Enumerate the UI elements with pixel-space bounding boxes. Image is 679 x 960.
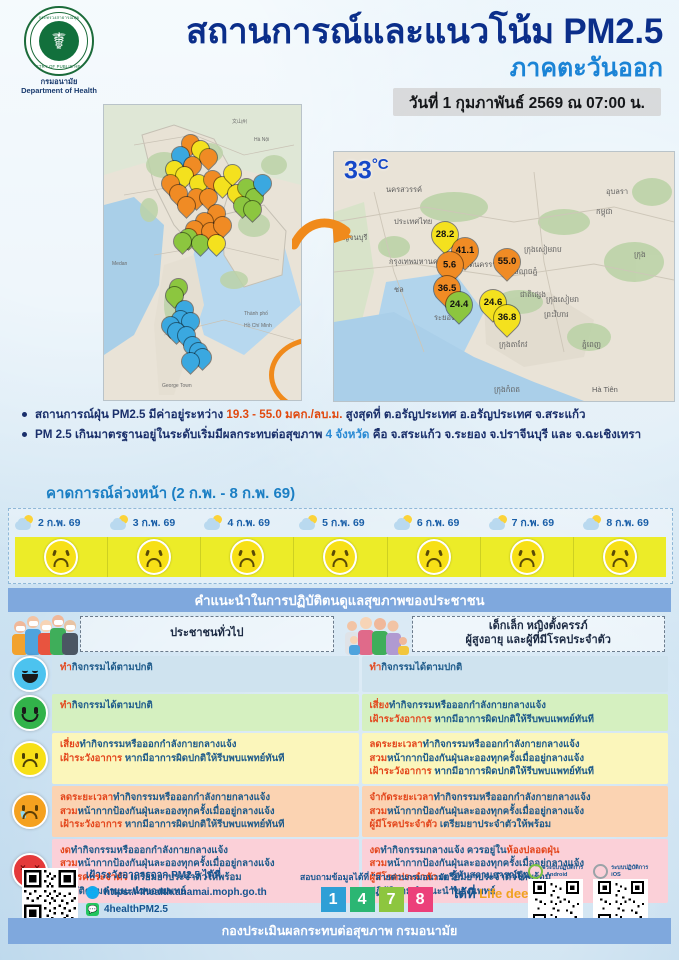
svg-text:ព្រះវិហារ: ព្រះវិហារ <box>544 309 569 319</box>
website-url[interactable]: https://4health.anamai.moph.go.th <box>104 885 267 900</box>
ministry-logo: กระทรวงสาธารณสุข ☤ MINISTRY OF PUBLIC HE… <box>16 6 102 95</box>
group-label-risk: เด็กเล็ก หญิงตั้งครรภ์ผู้สูงอายุ และผู้ท… <box>412 616 666 652</box>
recommendation-row: เสี่ยงทำกิจกรรมหรือออกกำลังกายกลางแจ้งเฝ… <box>8 733 671 784</box>
severity-emoji-cell <box>8 733 52 784</box>
recommendations-panel: ประชาชนทั่วไป เด็กเล็ก หญิงตั้งครรภ์ผู้ส… <box>8 612 671 860</box>
recommendation-segment: จำกัดระยะเวลา <box>370 792 434 803</box>
recommendation-text-risk: ทำกิจกรรมได้ตามปกติ <box>362 656 669 692</box>
recommendation-row: ทำกิจกรรมได้ตามปกติเสี่ยงทำกิจกรรมหรือออ… <box>8 694 671 731</box>
bullet-item: สถานการณ์ฝุ่น PM2.5 มีค่าอยู่ระหว่าง 19.… <box>22 406 667 424</box>
recommendation-segment: เฝ้าระวังอาการ <box>370 714 432 725</box>
footer: เฝ้าระวังอาการจาก PM2.5 ได้ที่ 🌐 https:/… <box>0 862 679 960</box>
recommendation-segment: งด <box>60 845 71 856</box>
recommendation-segment: ทำกิจกรรมกลางแจ้ง ควรอยู่ใน <box>380 845 506 856</box>
seal-arc-bottom-text: MINISTRY OF PUBLIC HEALTH <box>26 64 92 69</box>
forecast-heading: คาดการณ์ล่วงหน้า (2 ก.พ. - 8 ก.พ. 69) <box>46 481 295 505</box>
sad-face-icon <box>510 539 544 575</box>
sun-cloud-icon <box>15 515 34 530</box>
recommendation-text-general: ทำกิจกรรมได้ตามปกติ <box>52 694 359 731</box>
group-header-risk: เด็กเล็ก หญิงตั้งครรภ์ผู้สูงอายุ และผู้ท… <box>340 612 672 656</box>
website-qr-code[interactable] <box>22 868 78 924</box>
footer-contact-text: เฝ้าระวังอาการจาก PM2.5 ได้ที่ 🌐 https:/… <box>86 868 267 917</box>
recommendation-segment: เสี่ยง <box>60 739 79 750</box>
recommendations-title: คำแนะนำในการปฏิบัติตนดูแลสุขภาพของประชาช… <box>8 588 671 612</box>
caduceus-icon: ☤ <box>39 21 79 61</box>
bullet-segment: สถานการณ์ฝุ่น PM2.5 มีค่าอยู่ระหว่าง <box>35 408 226 421</box>
recommendation-segment: ลดระยะเวลา <box>60 792 113 803</box>
forecast-day-cell <box>388 537 481 577</box>
recommendation-segment: เฝ้าระวังอาการ <box>370 766 432 777</box>
recommendation-segment: ทำ <box>370 662 382 673</box>
forecast-day-cell <box>15 537 108 577</box>
footer-contact: เฝ้าระวังอาการจาก PM2.5 ได้ที่ 🌐 https:/… <box>22 868 267 924</box>
temperature-readout: 33°C <box>344 156 389 185</box>
forecast-day-header: 6 ก.พ. 69 <box>388 509 483 535</box>
sad-face-icon <box>230 539 264 575</box>
svg-text:Hà Nội: Hà Nội <box>254 137 269 143</box>
recommendation-segment: หากมีอาการผิดปกติให้รีบพบแพทย์ทันที <box>432 714 594 725</box>
recommendation-segment: หน้ากากป้องกันฝุ่นละอองทุกครั้งเมื่ออยู่… <box>387 753 584 764</box>
recommendation-segment: สวม <box>370 806 388 817</box>
forecast-day-header: 8 ก.พ. 69 <box>577 509 672 535</box>
hotline-block: สอบถามข้อมูลได้ที่ "สายด่วนกรมอนามัย" 14… <box>300 870 453 912</box>
svg-text:ក្រុងសៀមរា: ក្រុងសៀមរា <box>546 294 579 305</box>
svg-text:ក្រុងសៀមរាប: ក្រុងសៀមរាប <box>524 244 562 255</box>
sad-face-icon <box>417 539 451 575</box>
recommendation-segment: สวม <box>60 806 78 817</box>
svg-text:ក្រុងកំពត: ក្រុងកំពត <box>494 384 520 395</box>
severity-emoji-cell <box>8 656 52 692</box>
app-label: ระบบปฏิบัติการAndroid <box>546 865 583 878</box>
recommendation-segment: หากมีอาการผิดปกติให้รีบพบแพทย์ทันที <box>122 819 284 830</box>
forecast-day-header: 3 ก.พ. 69 <box>104 509 199 535</box>
map-pin-value: 28.2 <box>436 230 455 240</box>
forecast-day-label: 7 ก.พ. 69 <box>512 514 554 531</box>
app-label: ระบบปฏิบัติการiOS <box>611 865 648 878</box>
recommendation-segment: ทำกิจกรรมหรือออกกำลังกายกลางแจ้ง <box>79 739 236 750</box>
website-row[interactable]: 🌐 https://4health.anamai.moph.go.th <box>86 885 267 900</box>
bullet-segment: คือ จ.สระแก้ว จ.ระยอง จ.ปราจีนบุรี และ จ… <box>369 428 641 441</box>
forecast-day-label: 8 ก.พ. 69 <box>606 514 648 531</box>
sad-face-icon <box>323 539 357 575</box>
svg-text:อุบลรา: อุบลรา <box>606 187 628 196</box>
svg-text:Hà Tiên: Hà Tiên <box>592 385 618 394</box>
recommendation-segment: กิจกรรมได้ตามปกติ <box>72 700 153 711</box>
forecast-day-cell <box>481 537 574 577</box>
android-icon <box>528 864 543 879</box>
bullet-dot-icon <box>22 412 27 417</box>
recommendation-segment: เสี่ยง <box>370 700 389 711</box>
hotline-number: 1478 <box>300 887 453 912</box>
svg-text:George Town: George Town <box>162 383 192 389</box>
recommendation-segment: งด <box>370 845 381 856</box>
severity-emoji-cell <box>8 786 52 837</box>
forecast-day-header: 4 ก.พ. 69 <box>198 509 293 535</box>
group-header-general: ประชาชนทั่วไป <box>8 612 340 656</box>
group-label-general: ประชาชนทั่วไป <box>80 616 334 652</box>
forecast-day-header: 2 ก.พ. 69 <box>9 509 104 535</box>
globe-icon: 🌐 <box>86 886 99 899</box>
bullet-text: สถานการณ์ฝุ่น PM2.5 มีค่าอยู่ระหว่าง 19.… <box>35 406 586 424</box>
severity-warn-icon <box>12 741 48 777</box>
watch-symptoms-label: เฝ้าระวังอาการจาก PM2.5 ได้ที่ <box>86 868 267 883</box>
lifedee-block: รู้ทันสถานการณ์ฝุ่น ได้ที่ Life dee <box>452 868 529 904</box>
bullet-segment: 4 จังหวัด <box>326 428 370 441</box>
header: กระทรวงสาธารณสุข ☤ MINISTRY OF PUBLIC HE… <box>0 0 679 118</box>
recommendation-text-risk: ลดระยะเวลาทำกิจกรรมหรือออกกำลังกายกลางแจ… <box>362 733 669 784</box>
hotline-digit: 7 <box>379 887 404 912</box>
svg-text:文山州: 文山州 <box>232 118 247 125</box>
line-id[interactable]: 4healthPM2.5 <box>104 902 168 917</box>
svg-text:ประเทศไทย: ประเทศไทย <box>394 217 432 226</box>
recommendation-segment: ทำกิจกรรมหรือออกกำลังกายกลางแจ้ง <box>113 792 270 803</box>
recommendation-segment: ทำกิจกรรมหรือออกกำลังกายกลางแจ้ง <box>423 739 580 750</box>
map-pin-value: 5.6 <box>443 260 456 270</box>
recommendation-text-general: เสี่ยงทำกิจกรรมหรือออกกำลังกายกลางแจ้งเฝ… <box>52 733 359 784</box>
lifedee-caption: รู้ทันสถานการณ์ฝุ่น <box>452 868 529 883</box>
datetime-badge: วันที่ 1 กุมภาพันธ์ 2569 ณ 07:00 น. <box>393 88 661 116</box>
recommendation-segment: เฝ้าระวังอาการ <box>60 819 122 830</box>
recommendation-segment: หากมีอาการผิดปกติให้รีบพบแพทย์ทันที <box>432 766 594 777</box>
forecast-day-header: 5 ก.พ. 69 <box>293 509 388 535</box>
bullet-segment: สูงสุดที่ ต.อรัญประเทศ อ.อรัญประเทศ จ.สร… <box>342 408 585 421</box>
line-chat-icon: 💬 <box>86 903 99 916</box>
severity-happy-icon <box>12 656 48 692</box>
map-pin-value: 24.4 <box>450 300 469 310</box>
svg-text:ជាតិផ្សេង: ជាតិផ្សេង <box>520 289 546 299</box>
recommendation-segment: ห้องปลอดฝุ่น <box>507 845 560 856</box>
forecast-day-label: 3 ก.พ. 69 <box>133 514 175 531</box>
svg-text:ក្រុង: ក្រុង <box>634 250 646 260</box>
bullet-text: PM 2.5 เกินมาตรฐานอยู่ในระดับเริ่มมีผลกร… <box>35 426 641 444</box>
svg-text:Medan: Medan <box>112 261 128 267</box>
recommendation-segment: ทำ <box>60 662 72 673</box>
recommendation-segment: หน้ากากป้องกันฝุ่นละอองทุกครั้งเมื่ออยู่… <box>78 806 275 817</box>
forecast-day-label: 2 ก.พ. 69 <box>38 514 80 531</box>
recommendation-row: ทำกิจกรรมได้ตามปกติทำกิจกรรมได้ตามปกติ <box>8 656 671 692</box>
map-pin-value: 36.8 <box>498 313 517 323</box>
forecast-day-labels: 2 ก.พ. 693 ก.พ. 694 ก.พ. 695 ก.พ. 696 ก.… <box>9 509 672 535</box>
svg-text:ក្រុងតាកែវ: ក្រុងតាកែវ <box>499 340 528 350</box>
sun-cloud-icon <box>204 515 223 530</box>
severity-ok-icon <box>12 695 48 731</box>
thailand-overview-map[interactable]: 文山州Hà Nội MedanGeorge Town Thành phốHồ C… <box>103 104 302 401</box>
map-pin-value: 55.0 <box>498 257 517 267</box>
sun-cloud-icon <box>299 515 318 530</box>
sun-cloud-icon <box>489 515 508 530</box>
ministry-seal-icon: กระทรวงสาธารณสุข ☤ MINISTRY OF PUBLIC HE… <box>24 6 94 76</box>
vulnerable-group-icon <box>340 613 412 655</box>
svg-text:Thành phố: Thành phố <box>244 311 268 317</box>
bullet-segment: 19.3 - 55.0 มคก./ลบ.ม. <box>226 408 342 421</box>
forecast-day-cell <box>108 537 201 577</box>
page-title: สถานการณ์และแนวโน้ม PM2.5 <box>186 14 663 49</box>
recommendation-segment: ทำกิจกรรมหรือออกกำลังกายกลางแจ้ง <box>71 845 228 856</box>
zoom-arrow-icon <box>292 215 354 261</box>
eastern-region-map[interactable]: นครสวรรค์ อุบลรา จังหวัดนครราชสีมา ក្រុង… <box>333 151 675 402</box>
hotline-digit: 4 <box>350 887 375 912</box>
app-header: ระบบปฏิบัติการAndroid <box>528 864 583 879</box>
app-header: ระบบปฏิบัติการiOS <box>593 864 648 879</box>
seal-arc-top-text: กระทรวงสาธารณสุข <box>26 14 92 21</box>
general-public-icon <box>8 613 80 655</box>
forecast-day-cell <box>294 537 387 577</box>
severity-bad-icon <box>12 793 48 829</box>
forecast-level-band <box>15 537 666 577</box>
recommendation-text-general: ลดระยะเวลาทำกิจกรรมหรือออกกำลังกายกลางแจ… <box>52 786 359 837</box>
svg-text:นครสวรรค์: นครสวรรค์ <box>386 185 422 194</box>
summary-bullets: สถานการณ์ฝุ่น PM2.5 มีค่าอยู่ระหว่าง 19.… <box>22 406 667 446</box>
recommendation-segment: กิจกรรมได้ตามปกติ <box>381 662 462 673</box>
sun-cloud-icon <box>394 515 413 530</box>
line-row[interactable]: 💬 4healthPM2.5 <box>86 902 267 917</box>
hotline-digit: 8 <box>408 887 433 912</box>
lifedee-brand: Life dee <box>479 886 528 901</box>
recommendation-segment: สวม <box>370 753 388 764</box>
group-headers: ประชาชนทั่วไป เด็กเล็ก หญิงตั้งครรภ์ผู้ส… <box>8 612 671 656</box>
recommendation-segment: ลดระยะเวลา <box>370 739 423 750</box>
recommendation-row: ลดระยะเวลาทำกิจกรรมหรือออกกำลังกายกลางแจ… <box>8 786 671 837</box>
recommendation-segment: กิจกรรมได้ตามปกติ <box>72 662 153 673</box>
forecast-day-label: 6 ก.พ. 69 <box>417 514 459 531</box>
page-subtitle: ภาคตะวันออก <box>510 56 663 81</box>
sun-cloud-icon <box>110 515 129 530</box>
forecast-day-header: 7 ก.พ. 69 <box>483 509 578 535</box>
sad-face-icon <box>603 539 637 575</box>
sun-cloud-icon <box>583 515 602 530</box>
recommendation-segment: เตรียมยาประจำตัวให้พร้อม <box>437 819 551 830</box>
bullet-segment: PM 2.5 เกินมาตรฐานอยู่ในระดับเริ่มมีผลกร… <box>35 428 326 441</box>
recommendation-segment: หากมีอาการผิดปกติให้รีบพบแพทย์ทันที <box>122 753 284 764</box>
forecast-strip: 2 ก.พ. 693 ก.พ. 694 ก.พ. 695 ก.พ. 696 ก.… <box>8 508 673 584</box>
svg-text:Hồ Chí Minh: Hồ Chí Minh <box>244 323 272 329</box>
svg-text:ភ្នំពេញ: ភ្នំពេញ <box>582 339 601 349</box>
recommendation-segment: ทำกิจกรรมหรือออกกำลังกายกลางแจ้ง <box>389 700 546 711</box>
bullet-dot-icon <box>22 432 27 437</box>
sad-face-icon <box>44 539 78 575</box>
forecast-day-label: 4 ก.พ. 69 <box>227 514 269 531</box>
forecast-day-cell <box>574 537 666 577</box>
severity-emoji-cell <box>8 694 52 731</box>
sad-face-icon <box>137 539 171 575</box>
organization-bar: กองประเมินผลกระทบต่อสุขภาพ กรมอนามัย <box>8 918 671 944</box>
ios-icon <box>593 864 608 879</box>
qr-pattern <box>24 870 76 922</box>
svg-text:กรุงเทพมหานคร: กรุงเทพมหานคร <box>389 257 442 266</box>
lifedee-brand-line: ได้ที่ Life dee <box>452 883 529 904</box>
hotline-digit: 1 <box>321 887 346 912</box>
recommendation-text-general: ทำกิจกรรมได้ตามปกติ <box>52 656 359 692</box>
svg-text:ชล: ชล <box>394 285 404 294</box>
logo-label-english: Department of Health <box>16 87 102 96</box>
recommendation-text-risk: จำกัดระยะเวลาทำกิจกรรมหรือออกกำลังกายกลา… <box>362 786 669 837</box>
recommendation-segment: เฝ้าระวังอาการ <box>60 753 122 764</box>
recommendation-text-risk: เสี่ยงทำกิจกรรมหรือออกกำลังกายกลางแจ้งเฝ… <box>362 694 669 731</box>
recommendation-segment: หน้ากากป้องกันฝุ่นละอองทุกครั้งเมื่ออยู่… <box>387 806 584 817</box>
forecast-day-label: 5 ก.พ. 69 <box>322 514 364 531</box>
hotline-caption: สอบถามข้อมูลได้ที่ "สายด่วนกรมอนามัย" <box>300 870 453 884</box>
bullet-item: PM 2.5 เกินมาตรฐานอยู่ในระดับเริ่มมีผลกร… <box>22 426 667 444</box>
forecast-day-cell <box>201 537 294 577</box>
recommendation-segment: ทำ <box>60 700 72 711</box>
recommendation-segment: ทำกิจกรรมหรือออกกำลังกายกลางแจ้ง <box>434 792 591 803</box>
recommendation-segment: ผู้มีโรคประจำตัว <box>370 819 438 830</box>
